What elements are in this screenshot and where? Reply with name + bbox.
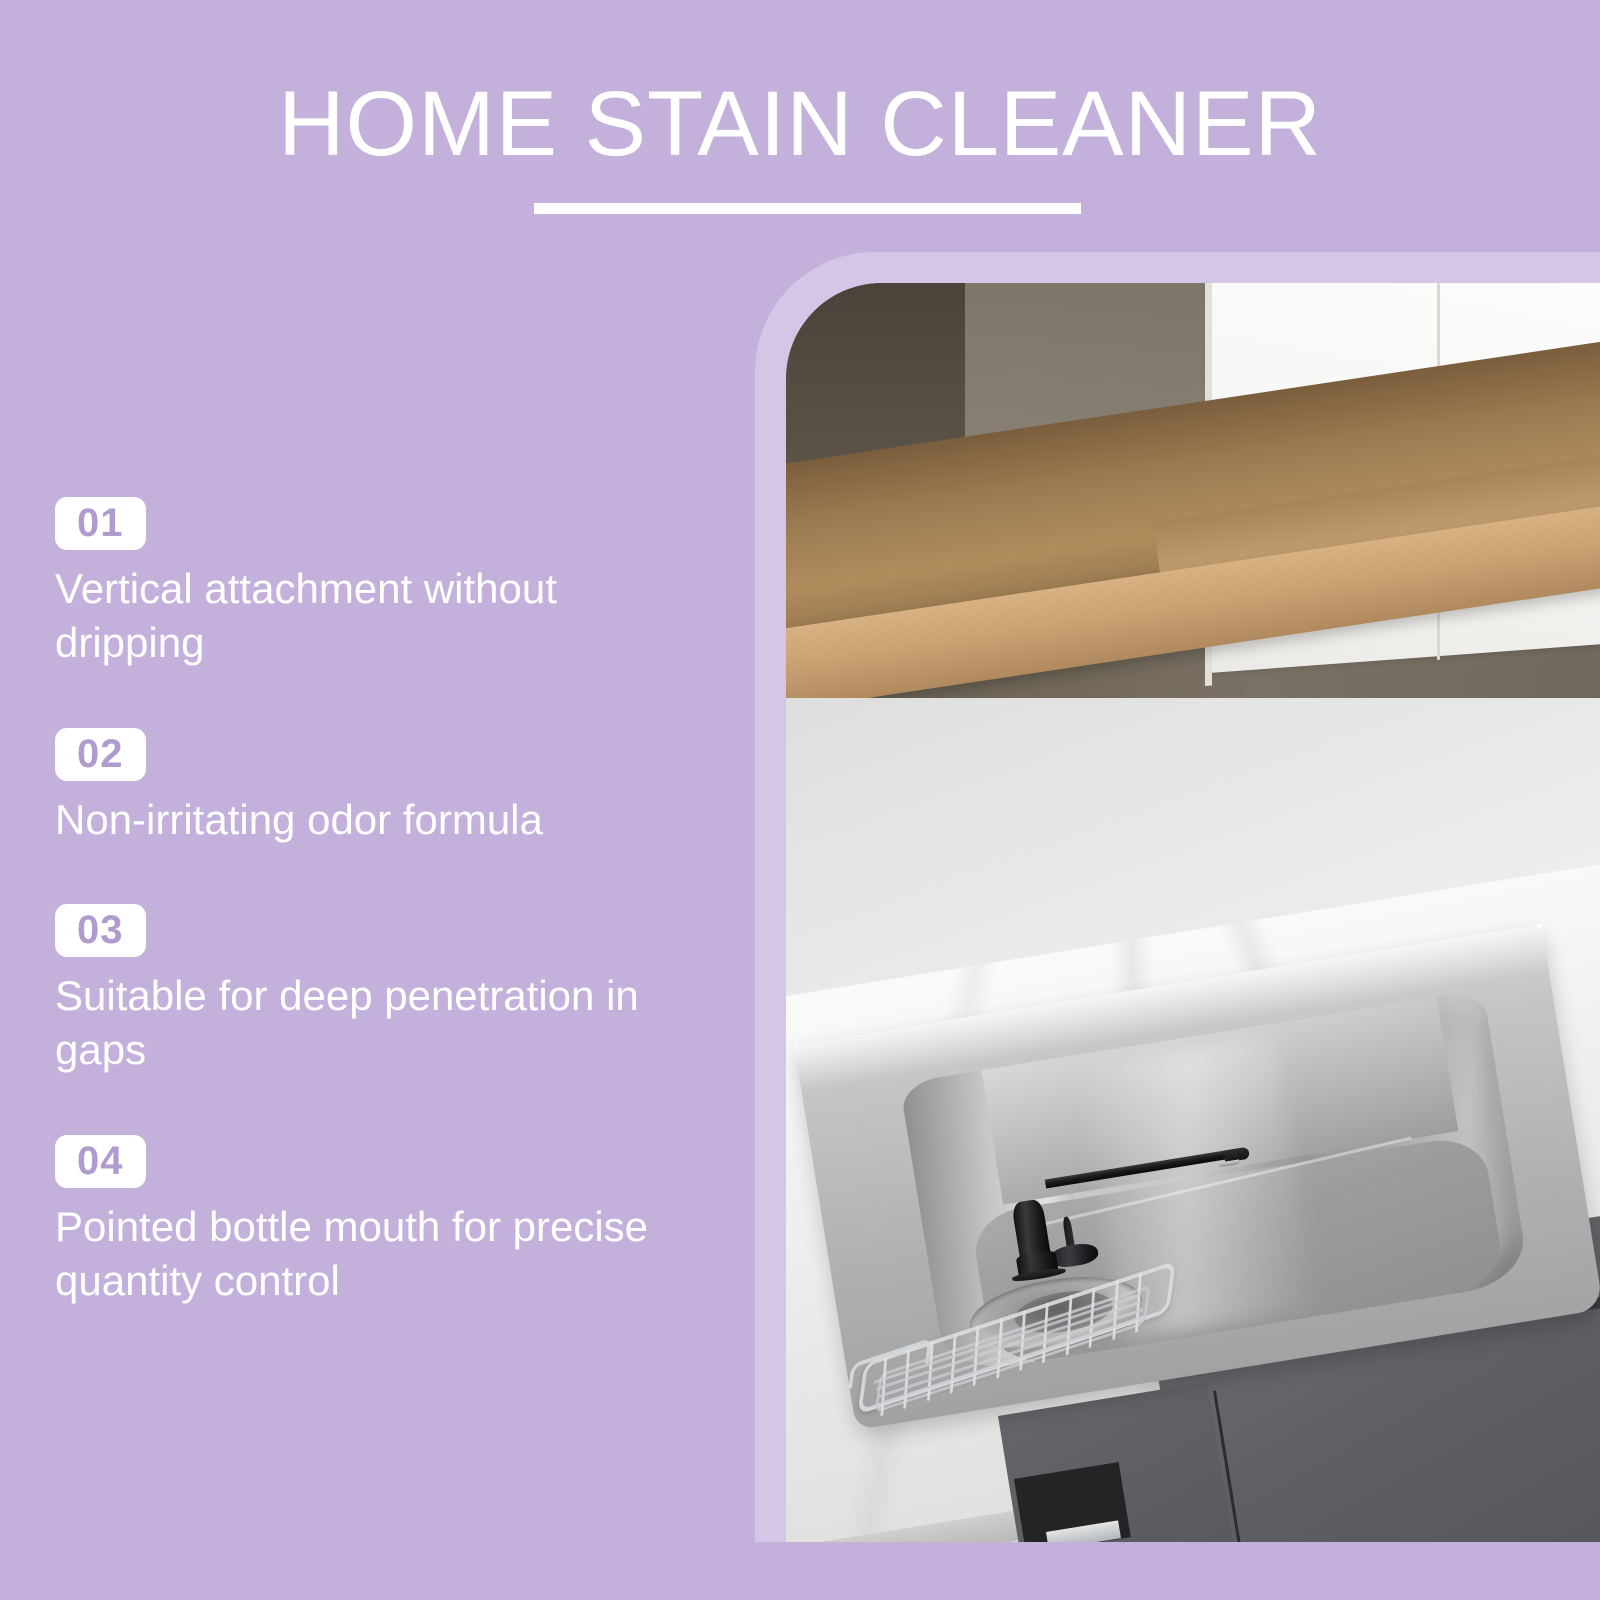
feature-number-badge: 01 — [55, 497, 146, 550]
feature-description: Pointed bottle mouth for precise quantit… — [55, 1200, 715, 1308]
feature-item-03: 03 Suitable for deep penetration in gaps — [55, 904, 715, 1077]
faucet-column — [1011, 1198, 1051, 1259]
title-divider — [534, 203, 1081, 214]
feature-number-badge: 03 — [55, 904, 146, 957]
feature-number-badge: 04 — [55, 1135, 146, 1188]
kitchen-photo — [786, 283, 1600, 1542]
feature-description: Suitable for deep penetration in gaps — [55, 969, 715, 1077]
feature-number-badge: 02 — [55, 728, 146, 781]
poster-canvas: HOME STAIN CLEANER 01 Vertical attachmen… — [0, 0, 1600, 1600]
feature-description: Vertical attachment without dripping — [55, 562, 715, 670]
faucet-aerator — [1219, 1159, 1240, 1167]
feature-item-02: 02 Non-irritating odor formula — [55, 728, 715, 847]
feature-list: 01 Vertical attachment without dripping … — [55, 497, 715, 1307]
feature-item-01: 01 Vertical attachment without dripping — [55, 497, 715, 670]
faucet-lever-handle — [1062, 1215, 1075, 1248]
feature-item-04: 04 Pointed bottle mouth for precise quan… — [55, 1135, 715, 1308]
feature-description: Non-irritating odor formula — [55, 793, 715, 847]
page-title: HOME STAIN CLEANER — [0, 78, 1600, 170]
